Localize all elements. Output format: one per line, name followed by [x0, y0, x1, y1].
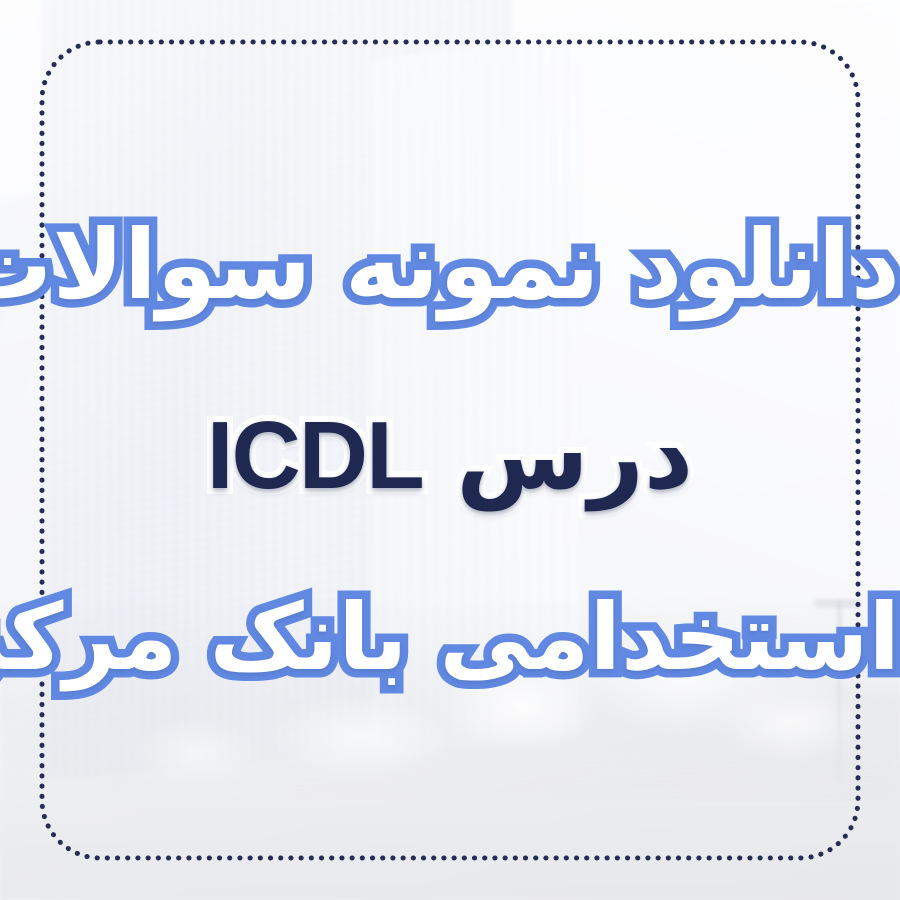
headline-line-3: استخدامی بانک مرکزی	[0, 592, 900, 684]
headline-line-2-latin-part: ICDL	[207, 402, 423, 509]
poster-canvas: دانلود نمونه سوالات درس ICDL استخدامی با…	[0, 0, 900, 900]
headline-stack: دانلود نمونه سوالات درس ICDL استخدامی با…	[0, 0, 900, 900]
headline-line-2-rtl-part: درس	[456, 399, 693, 511]
headline-line-2: درس ICDL	[0, 407, 900, 504]
headline-line-1: دانلود نمونه سوالات	[0, 217, 900, 313]
